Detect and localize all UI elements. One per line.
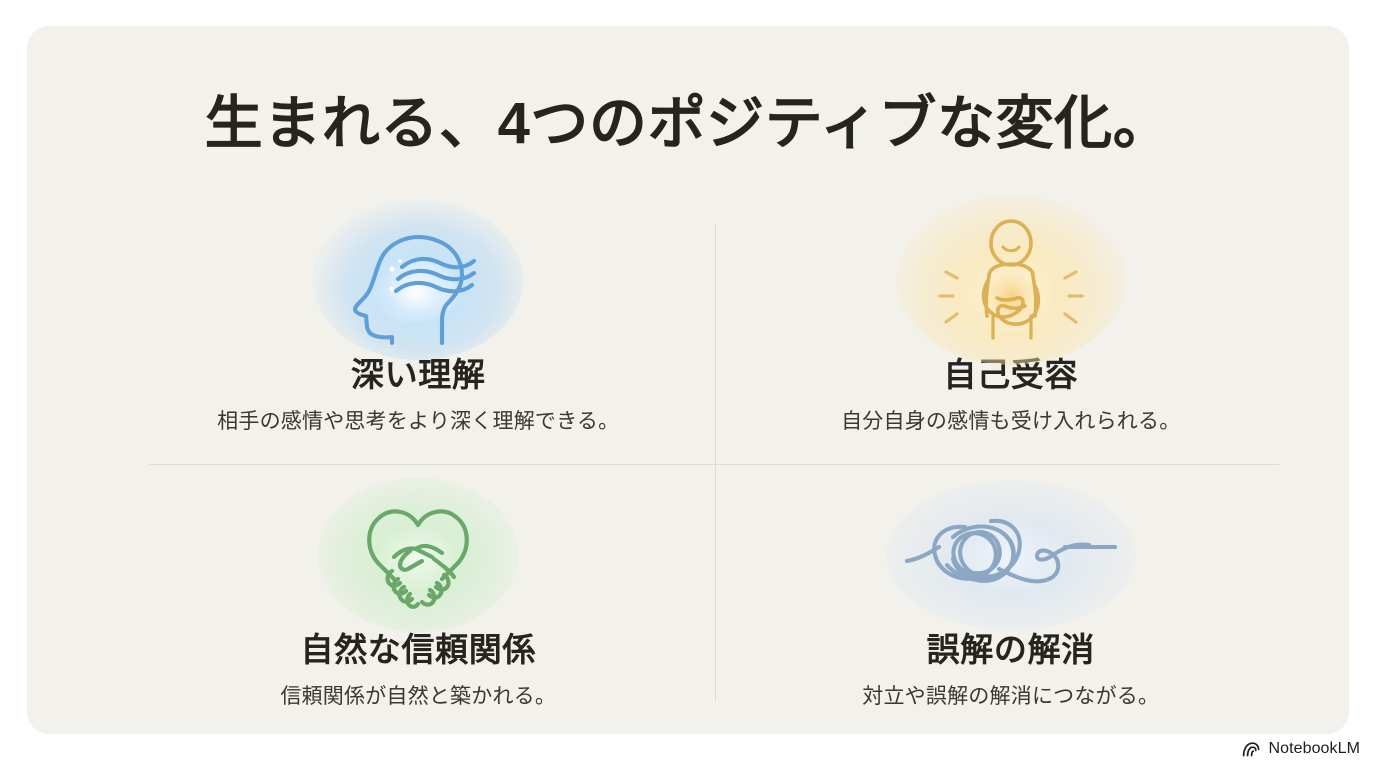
quadrant-description-natural-trust: 信頼関係が自然と築かれる。 xyxy=(280,683,556,710)
untangling-knot-icon xyxy=(903,503,1119,607)
quadrant-title-self-acceptance: 自己受容 xyxy=(943,355,1078,395)
page-title: 生まれる、4つのポジティブな変化。 xyxy=(27,88,1349,161)
quadrant-title-deep-understanding: 深い理解 xyxy=(351,355,486,395)
quadrant-title-natural-trust: 自然な信頼関係 xyxy=(300,630,536,670)
quadrant-resolving-misunderstanding: 誤解の解消 対立や誤解の解消につながる。 xyxy=(715,456,1308,711)
quadrant-title-resolving-misunderstanding: 誤解の解消 xyxy=(927,630,1095,670)
icon-container-self-acceptance xyxy=(921,215,1101,345)
icon-container-deep-understanding xyxy=(328,215,508,345)
slide-card: 生まれる、4つのポジティブな変化。 xyxy=(27,26,1349,734)
heart-handshake-icon xyxy=(348,497,488,613)
benefits-grid: 深い理解 相手の感情や思考をより深く理解できる。 xyxy=(122,201,1307,711)
notebooklm-watermark: NotebookLM xyxy=(1242,740,1360,758)
icon-container-resolving-misunderstanding xyxy=(921,490,1101,620)
head-profile-waves-icon xyxy=(342,217,494,343)
quadrant-natural-trust: 自然な信頼関係 信頼関係が自然と築かれる。 xyxy=(122,456,715,711)
icon-container-natural-trust xyxy=(328,490,508,620)
quadrant-self-acceptance: 自己受容 自分自身の感情も受け入れられる。 xyxy=(715,201,1308,456)
notebooklm-watermark-label: NotebookLM xyxy=(1268,740,1360,758)
notebooklm-logo-icon xyxy=(1242,741,1261,757)
slide-root: 生まれる、4つのポジティブな変化。 xyxy=(0,0,1376,768)
quadrant-description-deep-understanding: 相手の感情や思考をより深く理解できる。 xyxy=(217,408,619,435)
person-self-hug-rays-icon xyxy=(931,216,1091,344)
quadrant-description-resolving-misunderstanding: 対立や誤解の解消につながる。 xyxy=(862,683,1159,710)
quadrant-description-self-acceptance: 自分自身の感情も受け入れられる。 xyxy=(841,408,1180,435)
quadrant-deep-understanding: 深い理解 相手の感情や思考をより深く理解できる。 xyxy=(122,201,715,456)
